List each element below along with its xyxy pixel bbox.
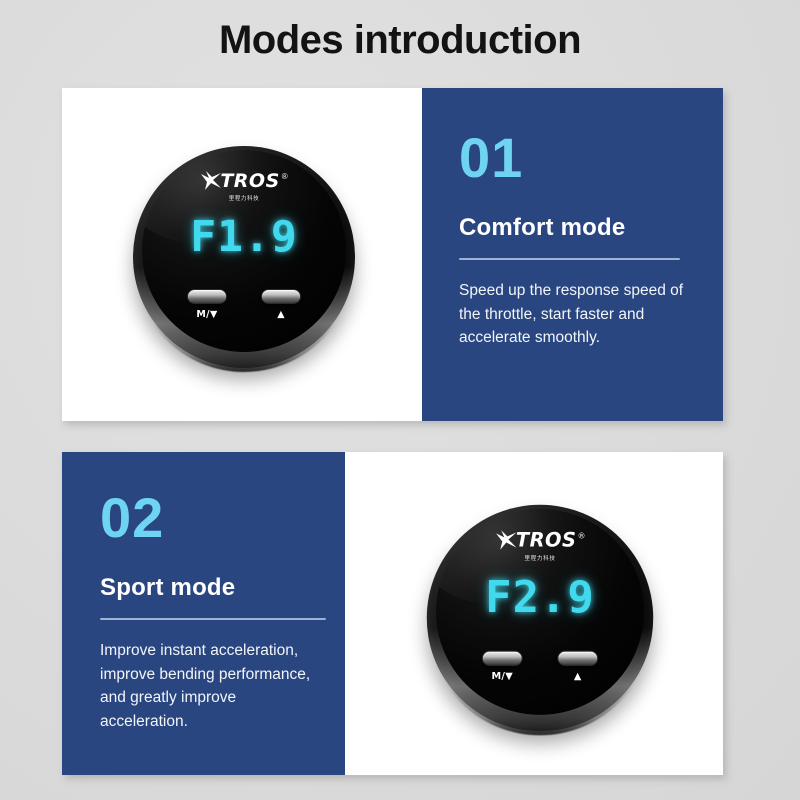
- mode-number: 01: [459, 130, 693, 186]
- mode-down-button[interactable]: [482, 650, 523, 665]
- device-panel: TROS ® 里程力科技 F1.9 M/▼ ▲: [62, 88, 422, 421]
- registered-trademark-icon: ®: [579, 532, 585, 540]
- brand-logo: TROS ® 里程力科技: [436, 531, 644, 562]
- device-panel: TROS ® 里程力科技 F2.9 M/▼ ▲: [345, 452, 723, 775]
- section-divider: [459, 258, 680, 260]
- mode-up-button-label: ▲: [555, 671, 600, 682]
- mode-up-button-cell: ▲: [555, 650, 600, 682]
- throttle-controller-device: TROS ® 里程力科技 F2.9 M/▼ ▲: [427, 504, 653, 730]
- page-title: Modes introduction: [0, 18, 800, 63]
- mode-card-comfort: TROS ® 里程力科技 F1.9 M/▼ ▲: [62, 88, 723, 421]
- page-root: Modes introduction T: [0, 0, 800, 800]
- mode-down-button-label: M/▼: [480, 671, 525, 682]
- mode-card-sport: 02 Sport mode Improve instant accelerati…: [62, 452, 723, 775]
- mode-name: Comfort mode: [459, 214, 693, 242]
- mode-description: Speed up the response speed of the throt…: [459, 279, 693, 350]
- brand-subtitle: 里程力科技: [436, 556, 644, 562]
- mode-up-button[interactable]: [261, 289, 301, 304]
- mode-down-button-cell: M/▼: [480, 650, 525, 682]
- device-button-row: M/▼ ▲: [436, 650, 644, 682]
- mode-down-button-label: M/▼: [185, 309, 229, 320]
- mode-description: Improve instant acceleration, improve be…: [100, 639, 321, 733]
- mode-info-content: 02 Sport mode Improve instant accelerati…: [100, 490, 321, 733]
- star-x-icon: [200, 171, 222, 195]
- mode-number: 02: [100, 490, 321, 546]
- mode-down-button[interactable]: [187, 289, 227, 304]
- brand-name: TROS: [516, 531, 577, 550]
- mode-up-button[interactable]: [557, 650, 598, 665]
- device-button-row: M/▼ ▲: [142, 289, 346, 320]
- mode-info-panel-comfort: 01 Comfort mode Speed up the response sp…: [422, 88, 723, 421]
- registered-trademark-icon: ®: [282, 173, 288, 181]
- mode-up-button-label: ▲: [259, 309, 303, 320]
- star-x-icon: [495, 530, 517, 554]
- brand-subtitle: 里程力科技: [142, 197, 346, 203]
- brand-logo: TROS ® 里程力科技: [142, 172, 346, 203]
- mode-info-panel-sport: 02 Sport mode Improve instant accelerati…: [62, 452, 345, 775]
- section-divider: [100, 618, 326, 620]
- throttle-controller-device: TROS ® 里程力科技 F1.9 M/▼ ▲: [133, 146, 355, 368]
- mode-name: Sport mode: [100, 574, 321, 602]
- brand-logo-row: TROS ®: [495, 531, 584, 554]
- brand-name: TROS: [220, 172, 279, 191]
- device-face: TROS ® 里程力科技 F2.9 M/▼ ▲: [436, 508, 644, 714]
- mode-info-content: 01 Comfort mode Speed up the response sp…: [459, 130, 693, 350]
- mode-display-readout: F2.9: [436, 572, 644, 623]
- brand-logo-row: TROS ®: [200, 172, 287, 195]
- mode-down-button-cell: M/▼: [185, 289, 229, 320]
- mode-up-button-cell: ▲: [259, 289, 303, 320]
- mode-display-readout: F1.9: [142, 212, 346, 262]
- device-face: TROS ® 里程力科技 F1.9 M/▼ ▲: [142, 150, 346, 352]
